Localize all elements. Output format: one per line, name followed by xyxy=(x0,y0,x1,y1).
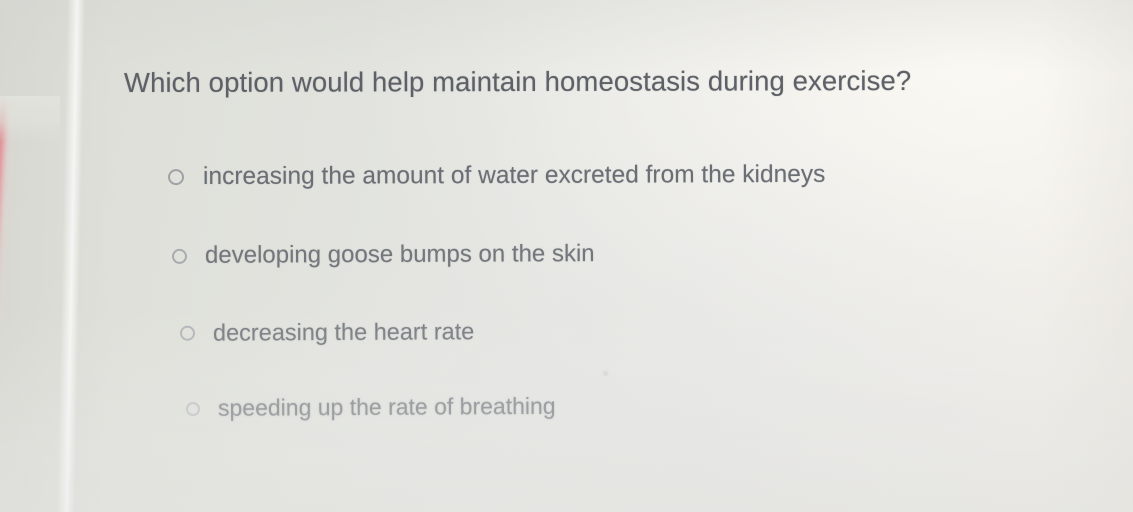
answer-option-4[interactable]: speeding up the rate of breathing xyxy=(186,393,556,422)
radio-button-icon-4[interactable] xyxy=(186,402,200,416)
radio-button-icon-3[interactable] xyxy=(180,326,195,341)
answer-option-label-2: developing goose bumps on the skin xyxy=(205,240,595,270)
radio-button-icon-1[interactable] xyxy=(168,169,184,185)
quiz-content: Which option would help maintain homeost… xyxy=(0,0,1133,512)
radio-button-icon-2[interactable] xyxy=(172,248,187,263)
answer-option-3[interactable]: decreasing the heart rate xyxy=(180,318,474,347)
answer-option-label-1: increasing the amount of water excreted … xyxy=(203,161,825,191)
answer-option-label-4: speeding up the rate of breathing xyxy=(218,393,556,422)
quiz-screenshot: Which option would help maintain homeost… xyxy=(0,0,1133,512)
answer-option-2[interactable]: developing goose bumps on the skin xyxy=(172,240,595,270)
answer-option-label-3: decreasing the heart rate xyxy=(213,318,474,346)
question-text: Which option would help maintain homeost… xyxy=(124,65,911,99)
dust-speck-artifact xyxy=(603,371,608,376)
answer-option-1[interactable]: increasing the amount of water excreted … xyxy=(168,161,825,191)
